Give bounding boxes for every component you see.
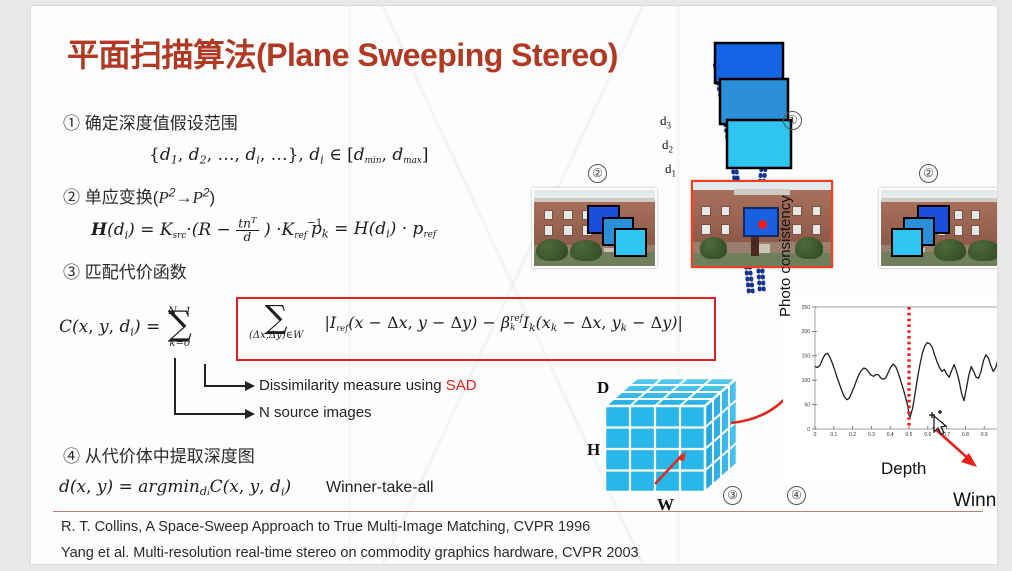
slide-canvas: 平面扫描算法(Plane Sweeping Stereo) ① 确定深度值假设范… (30, 5, 998, 565)
depth-label-d3: d3 (660, 113, 671, 131)
step-2-arrow: → (175, 188, 192, 207)
step-2-suffix: ) (210, 188, 216, 207)
mouse-pointer-icon (927, 410, 949, 436)
photo-consistency-chart: Photo consistency 050100150200250 00.10.… (783, 299, 998, 484)
cube-label-width: W (657, 495, 674, 515)
step-3-heading: ③ 匹配代价函数 (63, 258, 187, 283)
callout-winner-take-all: Winner-take-all (326, 479, 434, 497)
step-2-p1: P (158, 188, 168, 207)
winner-label: Winner (953, 490, 998, 512)
formula-cost-inner: ∑ (Δx,Δy)∈W |Iref(x − Δx, y − Δy) − βref… (245, 306, 683, 341)
svg-text:0.2: 0.2 (849, 432, 856, 438)
reference-photo (691, 180, 833, 268)
depth-label-d1: d1 (665, 161, 676, 179)
circled-number-2-left: ② (588, 164, 607, 183)
reference-divider (53, 511, 983, 512)
right-source-photo (879, 188, 998, 268)
patch-d1-left (614, 228, 647, 257)
svg-text:0: 0 (814, 432, 817, 438)
svg-text:250: 250 (802, 305, 811, 311)
svg-text:0.1: 0.1 (830, 432, 837, 438)
svg-text:50: 50 (804, 402, 810, 408)
svg-text:200: 200 (802, 329, 811, 335)
step-2-prefix: ② 单应变换( (63, 188, 158, 207)
step-1-heading: ① 确定深度值假设范围 (63, 109, 238, 134)
reference-item-1: R. T. Collins, A Space-Sweep Approach to… (61, 519, 590, 535)
circled-number-1: ① (783, 111, 802, 130)
cube-label-depth: D (597, 378, 609, 398)
callout-dissimilarity-text: Dissimilarity measure using (259, 377, 446, 394)
circled-number-2-right: ② (919, 164, 938, 183)
formula-cost-lhs: C(x, y, di) = N−1 ∑ k=0 (59, 306, 194, 349)
svg-text:0.3: 0.3 (868, 432, 875, 438)
reference-point-marker (758, 220, 767, 229)
step-4-heading: ④ 从代价体中提取深度图 (63, 442, 255, 467)
patch-d1-right (891, 228, 924, 257)
cube-label-height: H (587, 440, 600, 460)
formula-depth-set: {d1, d2, …, di, …}, di ∈ [dmin, dmax] (149, 145, 429, 166)
cost-volume-cube (587, 372, 747, 502)
svg-text:150: 150 (802, 354, 811, 360)
circled-number-3: ③ (723, 486, 742, 505)
svg-text:100: 100 (802, 378, 811, 384)
svg-text:0: 0 (807, 427, 810, 433)
formula-argmin: d(x, y) = argmindiC(x, y, di) (59, 477, 291, 498)
left-source-photo (532, 188, 657, 268)
step-2-heading: ② 单应变换(P2→P2) (63, 183, 215, 208)
callout-dissimilarity: Dissimilarity measure using SAD (259, 377, 477, 394)
callout-sad-label: SAD (446, 377, 477, 394)
step-2-p2: P (192, 188, 202, 207)
step-2-exp2: 2 (203, 185, 210, 199)
svg-text:0.4: 0.4 (887, 432, 894, 438)
depth-label-d2: d2 (662, 137, 673, 155)
callout-n-source: N source images (259, 404, 372, 421)
reference-item-2: Yang et al. Multi-resolution real-time s… (61, 545, 639, 561)
page-title: 平面扫描算法(Plane Sweeping Stereo) (67, 30, 618, 76)
chart-x-axis-label: Depth (881, 459, 926, 479)
formula-projection: pk = H(di) · pref (311, 219, 436, 240)
circled-number-4: ④ (787, 486, 806, 505)
formula-homography: H(di) = Ksrc·(R − tnTd ) ·Kref−1 (91, 217, 323, 244)
svg-text:0.5: 0.5 (906, 432, 913, 438)
